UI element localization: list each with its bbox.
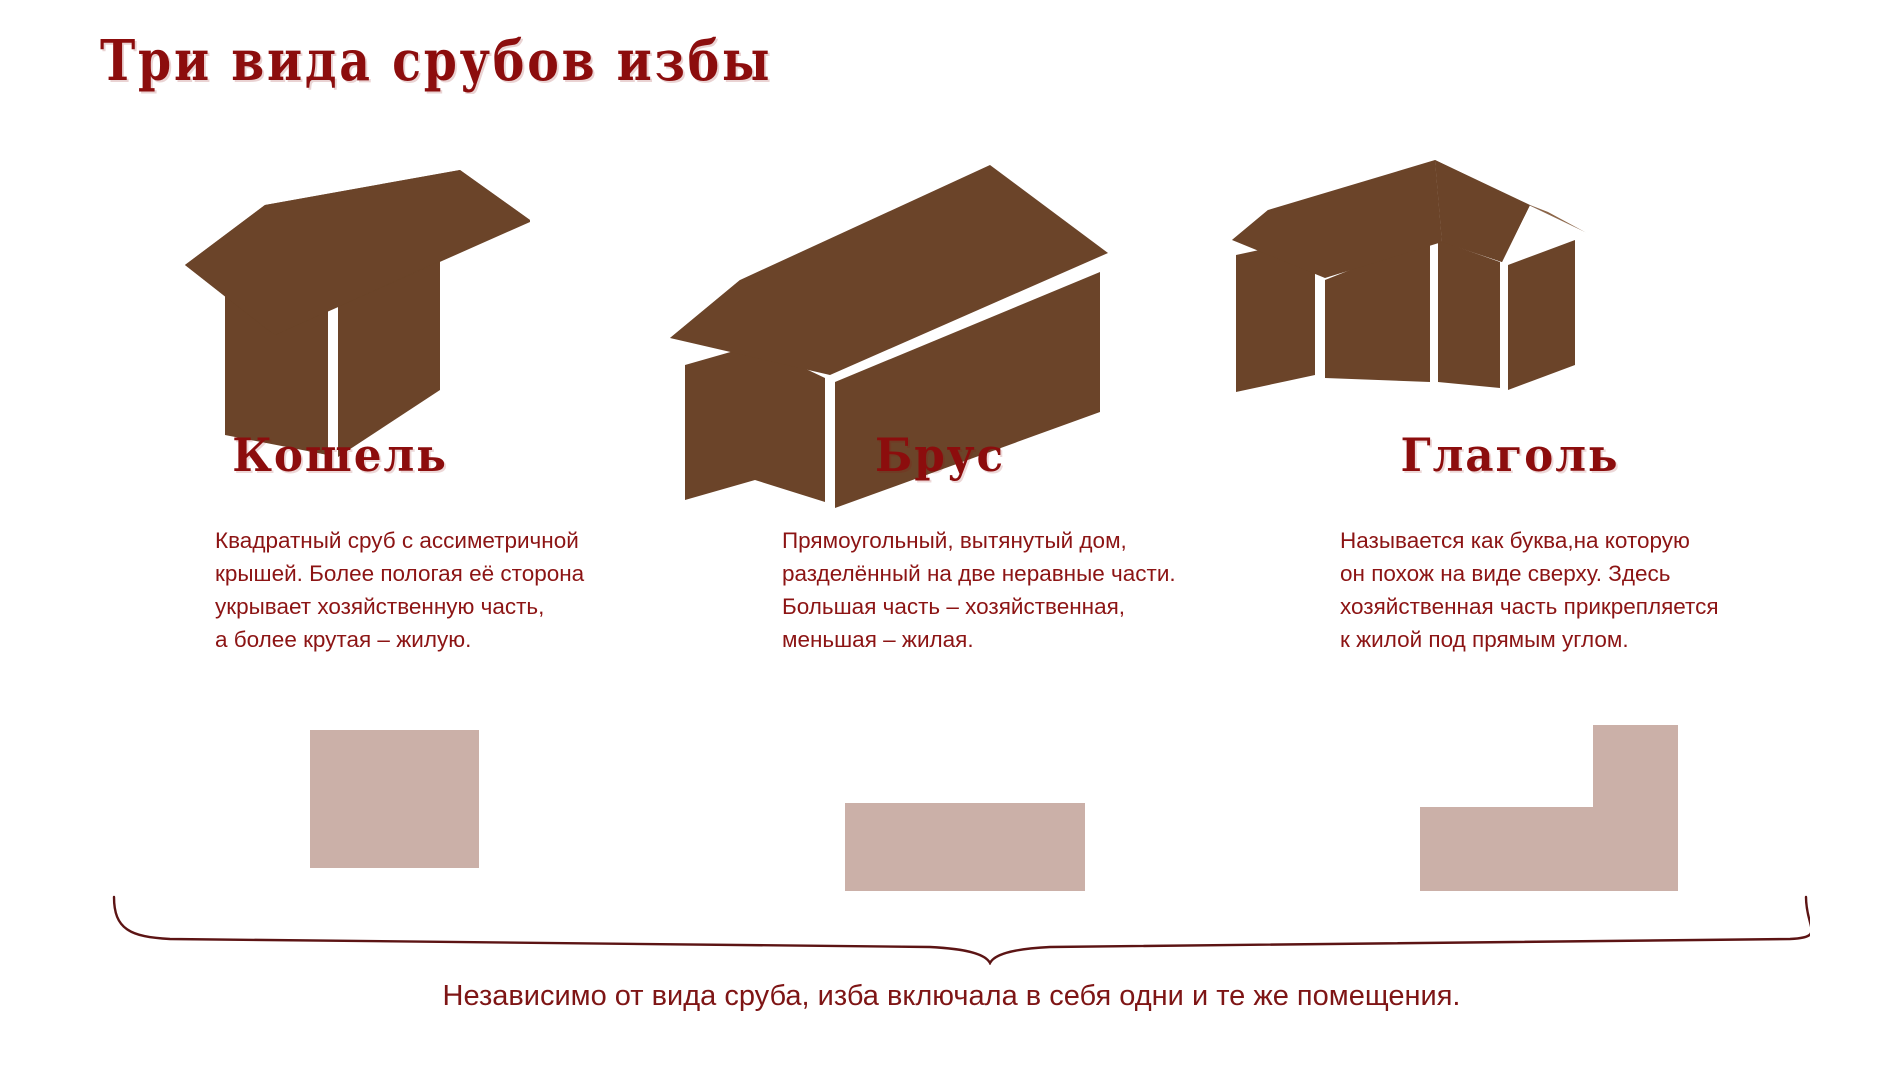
brace-path — [114, 897, 1810, 963]
floor-plan-brus-rectangle — [845, 803, 1085, 891]
type-heading-koshel: Кошель — [74, 428, 606, 482]
type-description-glagol: Называется как буква,на которую он похож… — [1230, 524, 1790, 656]
curly-brace-decoration — [110, 895, 1810, 965]
type-description-brus: Прямоугольный, вытянутый дом, разделённы… — [660, 524, 1220, 656]
type-description-koshel: Квадратный сруб с ассиметричной крышей. … — [60, 524, 620, 656]
summary-caption: Независимо от вида сруба, изба включала … — [0, 980, 1903, 1013]
floor-plan-leg-horizontal — [1420, 807, 1678, 891]
floor-plan-koshel-square — [310, 730, 479, 868]
type-column-glagol: Глаголь Называется как буква,на которую … — [1230, 150, 1790, 656]
type-column-koshel: Кошель Квадратный сруб с ассиметричной к… — [60, 150, 620, 656]
wall-right — [1508, 240, 1575, 390]
type-heading-brus: Брус — [674, 428, 1206, 482]
house-elongated-rectangular-icon — [660, 150, 1220, 410]
house-illustration-koshel — [60, 150, 620, 410]
house-illustration-glagol — [1230, 150, 1790, 410]
floor-plan-glagol-lshape — [1420, 725, 1678, 891]
house-square-asymmetric-roof-icon — [60, 150, 620, 410]
roof-gable-underside-right — [1530, 205, 1585, 232]
house-l-shaped-icon — [1230, 150, 1790, 410]
wall-inner-corner — [1438, 240, 1500, 388]
page-title: Три вида срубов избы — [100, 28, 772, 94]
type-column-brus: Брус Прямоугольный, вытянутый дом, разде… — [660, 150, 1220, 656]
type-heading-glagol: Глаголь — [1244, 428, 1776, 482]
house-illustration-brus — [660, 150, 1220, 410]
